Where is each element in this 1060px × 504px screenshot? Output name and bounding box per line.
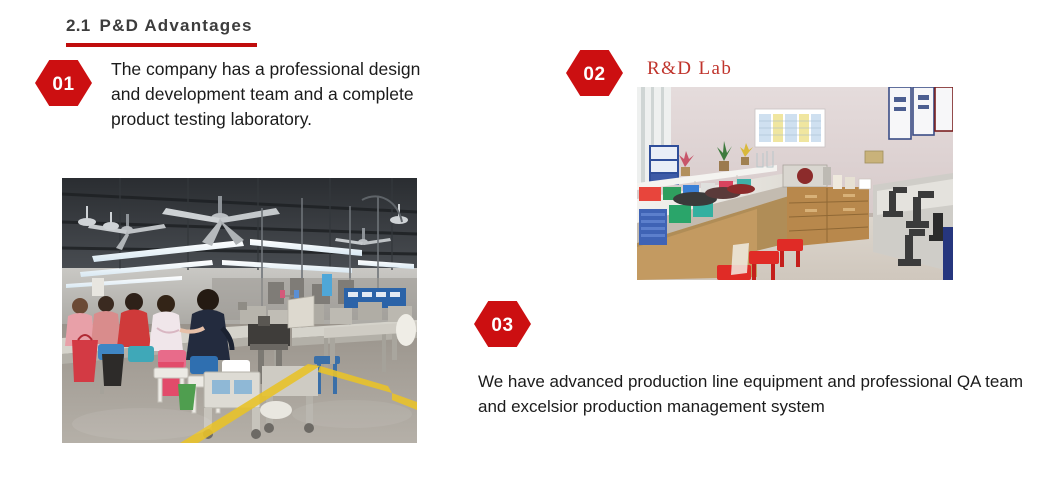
garment-factory-photo-illustration (62, 178, 417, 443)
badge-02-label: 02 (583, 65, 605, 84)
section-title-text: P&D Advantages (100, 16, 253, 35)
heading-underline-rule (66, 43, 257, 47)
page-title: 2.1P&D Advantages (66, 16, 486, 36)
badge-03-label: 03 (491, 316, 513, 335)
section-number: 2.1 (66, 16, 91, 35)
badge-03-hexagon: 03 (474, 301, 531, 347)
rnd-lab-caption: R&D Lab (647, 58, 732, 80)
badge-01-hexagon: 01 (35, 60, 92, 106)
slide-canvas: 2.1P&D Advantages 01 The company has a p… (0, 0, 1060, 504)
rnd-lab-photo-illustration (637, 87, 953, 280)
item-one-description: The company has a professional design an… (111, 57, 426, 132)
badge-02-hexagon: 02 (566, 50, 623, 96)
badge-01-label: 01 (52, 75, 74, 94)
section-heading: 2.1P&D Advantages (66, 16, 486, 36)
item-three-description: We have advanced production line equipme… (478, 369, 1023, 419)
rnd-lab-photo (637, 87, 953, 280)
garment-factory-photo (62, 178, 417, 443)
